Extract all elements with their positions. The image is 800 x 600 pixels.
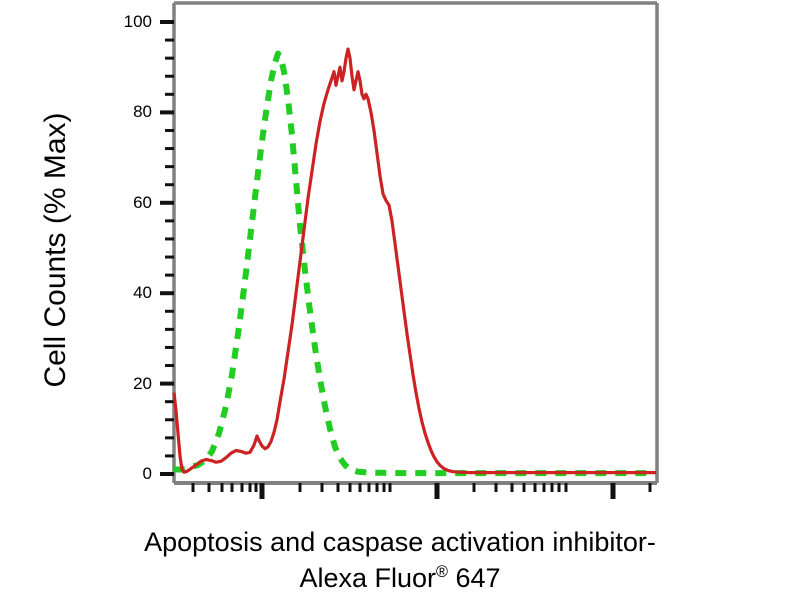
y-tick-label-20: 20 <box>108 374 152 394</box>
x-axis-ticks <box>193 483 650 499</box>
y-tick-label-40: 40 <box>108 283 152 303</box>
y-tick-label-0: 0 <box>108 464 152 484</box>
y-axis-label: Cell Counts (% Max) <box>34 50 78 450</box>
curve-isotype-control <box>174 54 656 474</box>
caption-line-1: Apoptosis and caspase activation inhibit… <box>144 527 656 557</box>
caption-line-2-suffix: 647 <box>448 563 501 593</box>
registered-mark-icon: ® <box>436 563 448 581</box>
y-tick-label-60: 60 <box>108 193 152 213</box>
flow-cytometry-figure: Cell Counts (% Max) 020406080100 Apoptos… <box>0 0 800 600</box>
y-tick-label-80: 80 <box>108 102 152 122</box>
curve-sample-stained <box>174 49 656 473</box>
y-axis-ticks <box>160 22 174 474</box>
plot-frame <box>174 3 657 483</box>
y-tick-label-100: 100 <box>108 12 152 32</box>
data-curves <box>174 49 656 473</box>
x-axis-caption: Apoptosis and caspase activation inhibit… <box>30 524 770 596</box>
caption-line-2-prefix: Alexa Fluor <box>299 563 436 593</box>
